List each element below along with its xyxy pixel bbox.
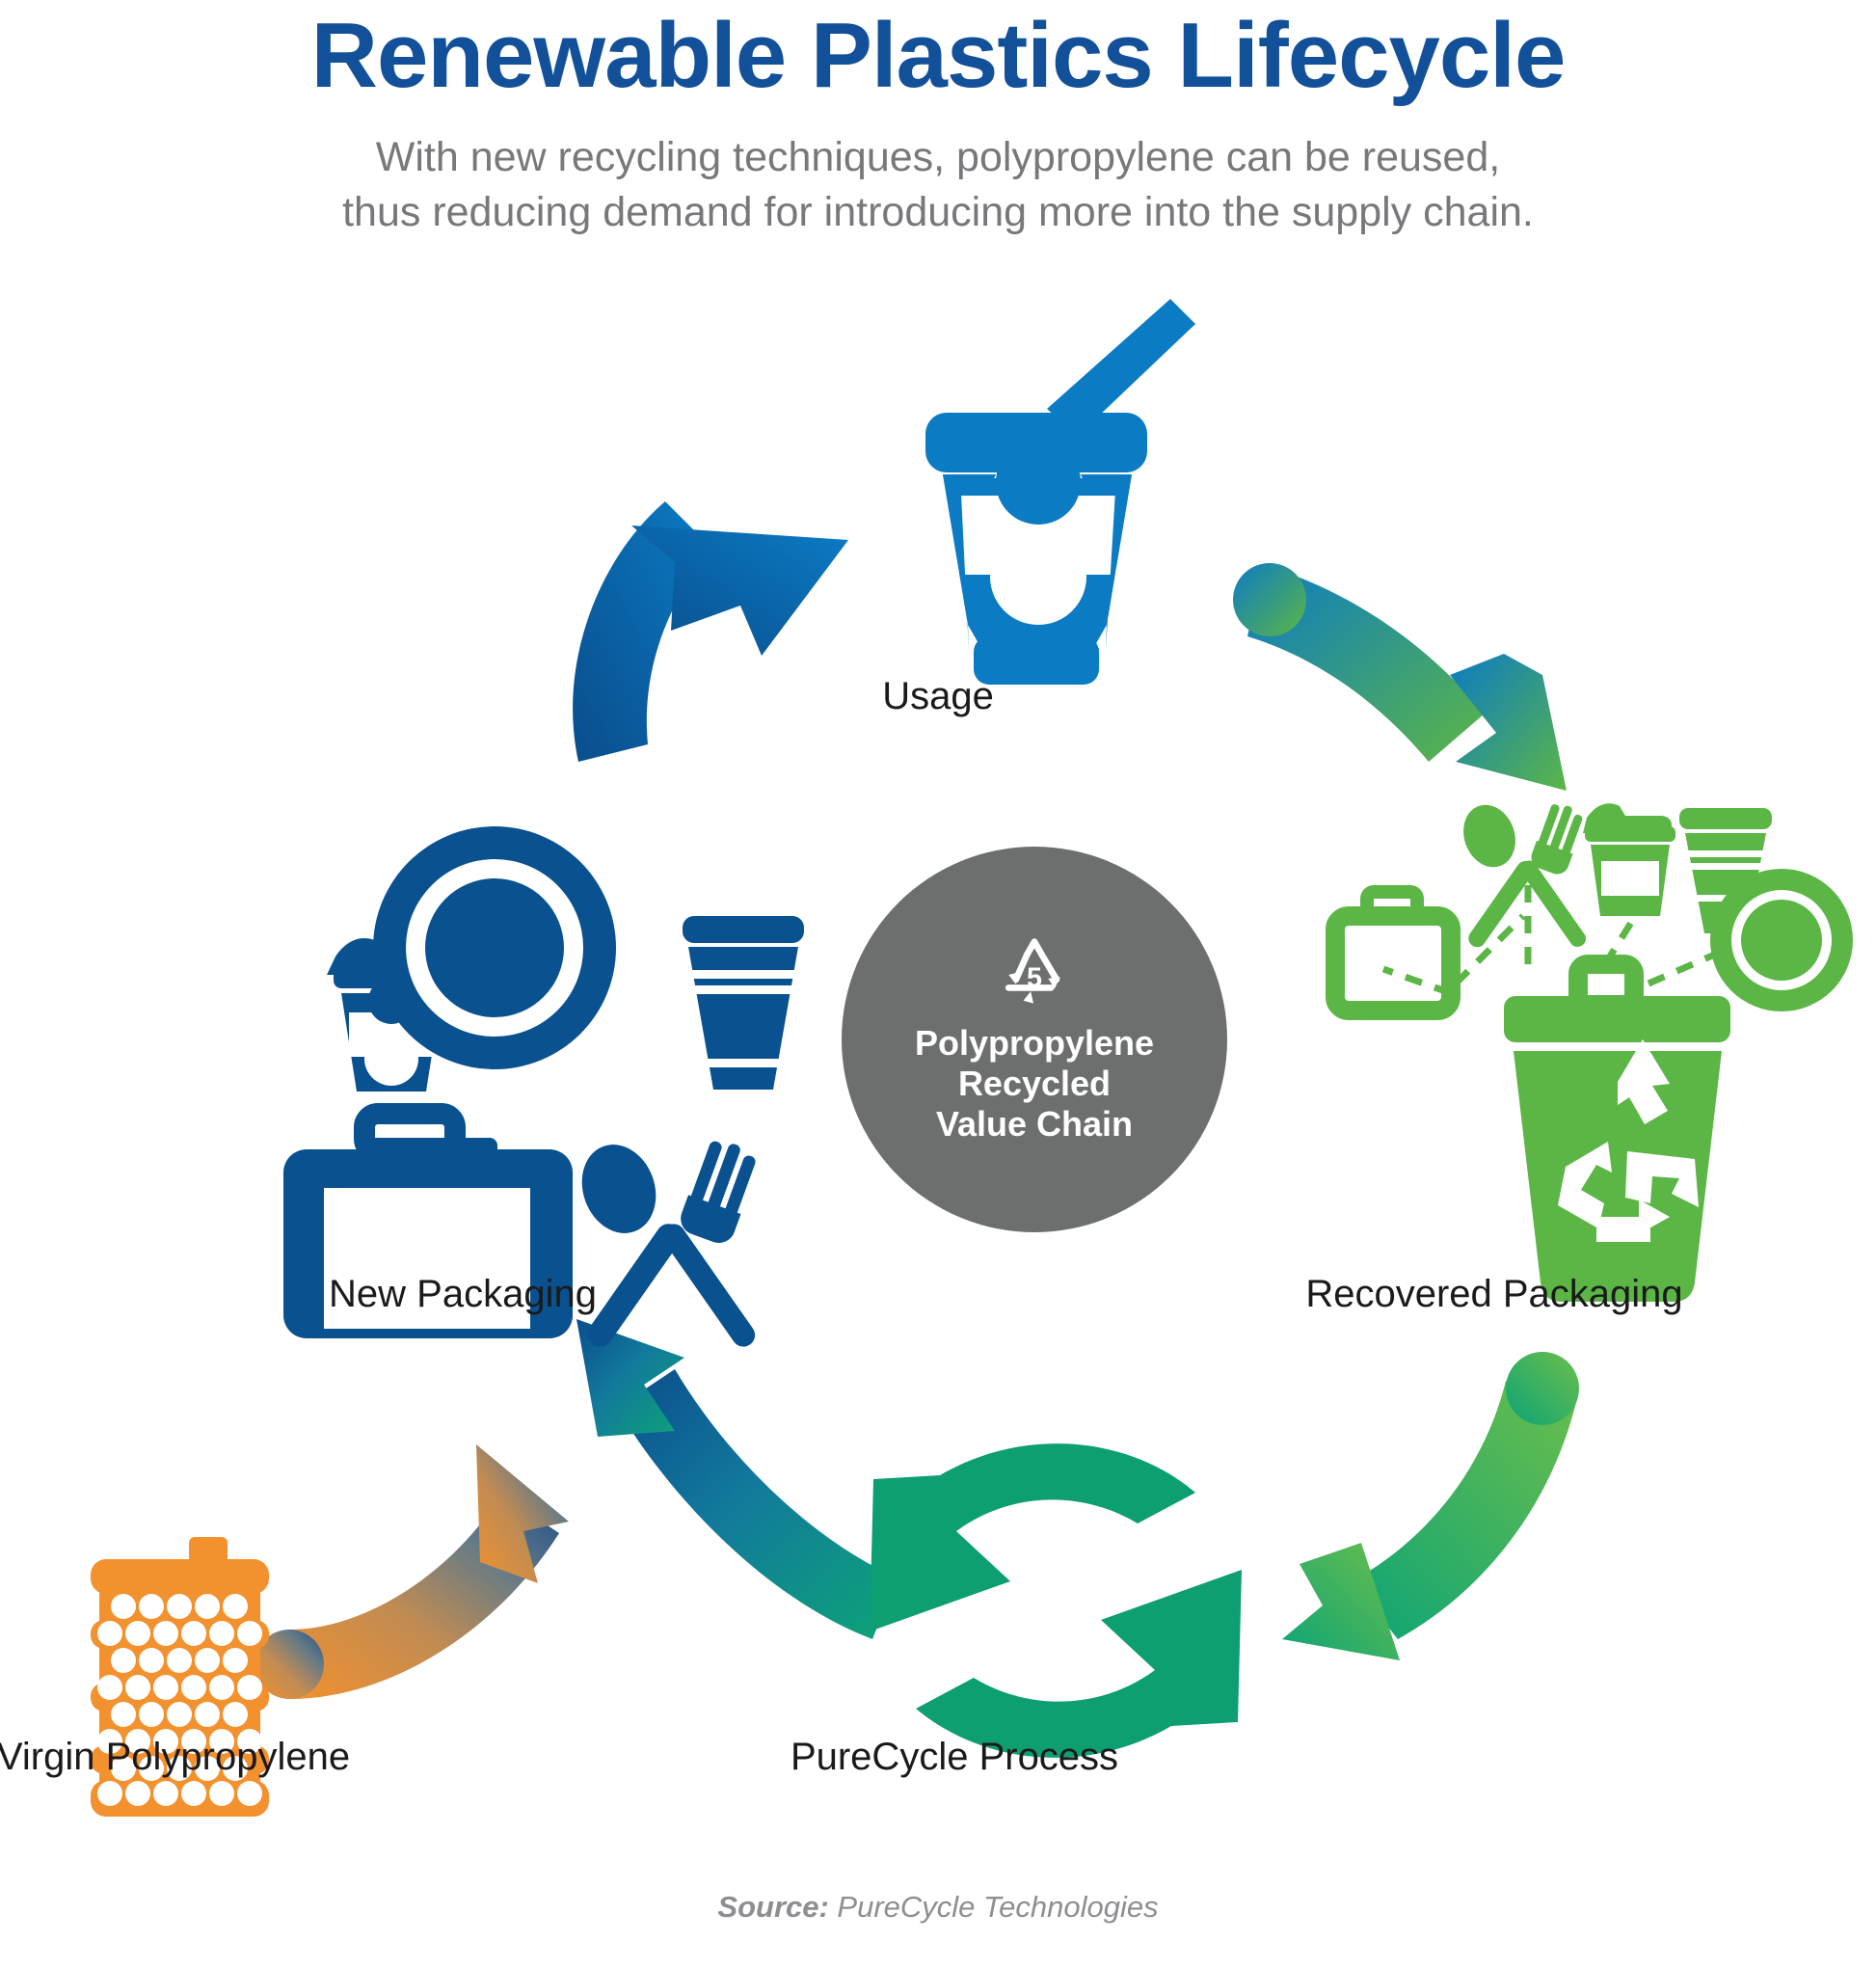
source-credit: Source: PureCycle Technologies [0, 1890, 1876, 1925]
arrow-virgin-to-newpkg [255, 1444, 569, 1699]
tapered-cup-icon [1679, 808, 1772, 933]
subtitle-line-2: thus reducing demand for introducing mor… [0, 185, 1876, 240]
source-prefix: Source: [717, 1890, 828, 1924]
center-line-3: Value Chain [915, 1104, 1154, 1145]
page-title: Renewable Plastics Lifecycle [0, 8, 1876, 105]
recycle-bin-icon [1504, 964, 1730, 1302]
recovered-packaging-group [1335, 797, 1853, 1302]
lidded-cup-icon [327, 938, 449, 1092]
center-hub: 5 Polypropylene Recycled Value Chain [842, 847, 1227, 1232]
lidded-cup-icon [1583, 803, 1675, 916]
recycling-triangle-5-icon: 5 [988, 934, 1081, 1017]
stage-label-purecycle: PureCycle Process [656, 1736, 1253, 1779]
drink-cup-with-straw-icon [925, 299, 1195, 685]
arrow-newpkg-to-usage [573, 501, 848, 762]
arrow-purecycle-to-newpkg [576, 1319, 897, 1639]
subtitle-line-1: With new recycling techniques, polypropy… [0, 130, 1876, 185]
header: Renewable Plastics Lifecycle With new re… [0, 0, 1876, 239]
resin-code-number: 5 [1027, 963, 1042, 994]
arrow-recovered-to-purecycle [1282, 1352, 1579, 1660]
tapered-cup-icon [683, 916, 804, 1090]
plate-icon [373, 826, 616, 1069]
infographic-root: Renewable Plastics Lifecycle With new re… [0, 0, 1876, 1968]
source-name: PureCycle Technologies [829, 1890, 1159, 1924]
spoon-fork-icon [570, 1134, 763, 1352]
spoon-fork-icon [1455, 797, 1589, 951]
stage-label-virgin: Virgin Polypropylene [0, 1736, 357, 1779]
recycle-arrows-icon [870, 1443, 1242, 1758]
center-line-2: Recycled [915, 1064, 1154, 1104]
briefcase-container-icon [1335, 892, 1451, 1011]
stage-label-usage: Usage [0, 675, 1876, 718]
page-subtitle: With new recycling techniques, polypropy… [0, 130, 1876, 240]
plate-icon [1710, 869, 1853, 1011]
stage-label-newpkg: New Packaging [193, 1273, 733, 1316]
stage-label-recovered: Recovered Packaging [1118, 1273, 1870, 1316]
center-hub-text: Polypropylene Recycled Value Chain [915, 1023, 1154, 1144]
center-line-1: Polypropylene [915, 1023, 1154, 1064]
